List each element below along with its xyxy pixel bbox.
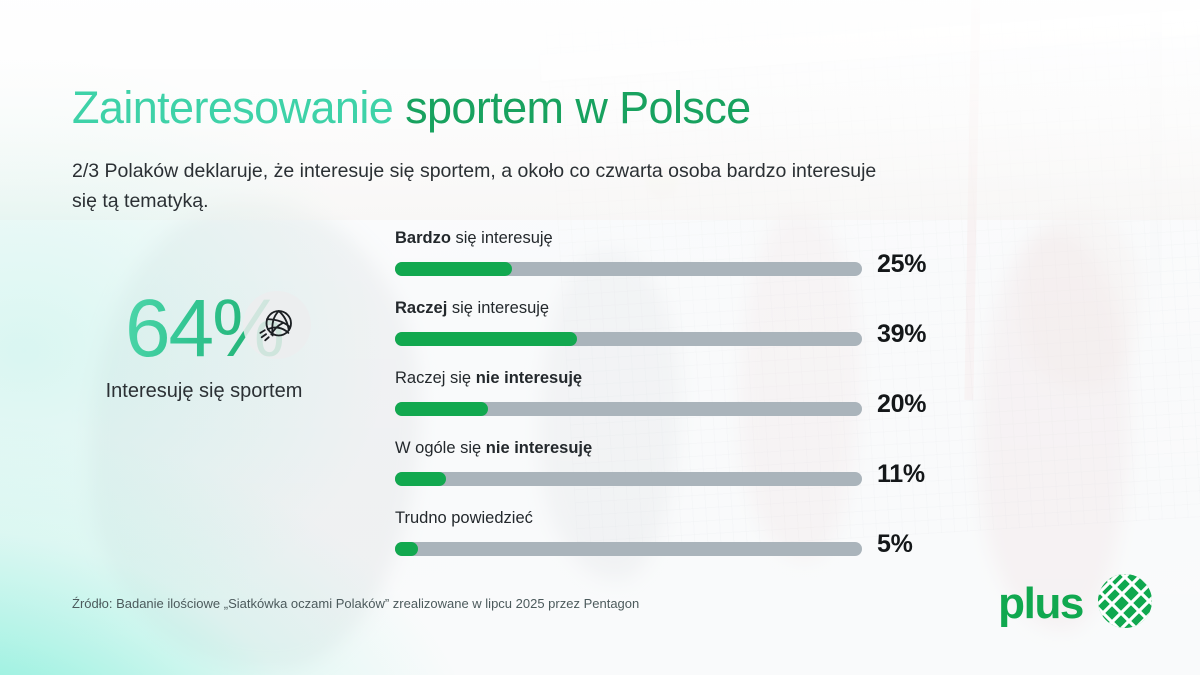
- bar-label-bold: Raczej: [395, 299, 447, 317]
- bar-label: Bardzo się interesuję: [395, 228, 955, 248]
- chart-row: Raczej się interesuję 39%: [395, 298, 955, 368]
- chart-row: Bardzo się interesuję 25%: [395, 228, 955, 298]
- bar-value: 11%: [877, 460, 925, 489]
- bar-track: [395, 402, 862, 416]
- bar-label: Raczej się interesuję: [395, 298, 955, 318]
- plus-logo-wordmark: plus: [998, 582, 1083, 626]
- bar-label-bold: nie interesuję: [476, 369, 582, 387]
- bar-label: W ogóle się nie interesuję: [395, 438, 955, 458]
- bar-fill: [395, 332, 577, 346]
- page-title-main: sportem w Polsce: [393, 82, 750, 133]
- chart-row: Trudno powiedzieć 5%: [395, 508, 955, 578]
- bar-label-bold: nie interesuję: [486, 439, 592, 457]
- bar-track: [395, 542, 862, 556]
- net-tape: [540, 5, 1200, 81]
- plus-logo: plus: [998, 572, 1154, 635]
- bar-label-rest: Trudno powiedzieć: [395, 509, 533, 527]
- bar-track: [395, 332, 862, 346]
- chart-row: W ogóle się nie interesuję 11%: [395, 438, 955, 508]
- bar-line: 11%: [395, 468, 955, 490]
- bar-fill: [395, 402, 488, 416]
- bar-label: Trudno powiedzieć: [395, 508, 955, 528]
- bar-line: 20%: [395, 398, 955, 420]
- bar-line: 39%: [395, 328, 955, 350]
- infographic-canvas: Zainteresowanie sportem w Polsce 2/3 Pol…: [0, 0, 1200, 675]
- bar-label-rest: się interesuję: [451, 229, 553, 247]
- bar-track: [395, 262, 862, 276]
- bar-value: 39%: [877, 320, 926, 349]
- bar-line: 5%: [395, 538, 955, 560]
- page-title-accent: Zainteresowanie: [72, 82, 393, 133]
- volleyball-icon: [243, 291, 311, 359]
- bar-value: 5%: [877, 530, 913, 559]
- chart-row: Raczej się nie interesuję 20%: [395, 368, 955, 438]
- bar-fill: [395, 472, 446, 486]
- bar-value: 25%: [877, 250, 926, 279]
- bar-label: Raczej się nie interesuję: [395, 368, 955, 388]
- player-silhouette: [1020, 210, 1140, 390]
- net-pole: [964, 0, 980, 400]
- bar-line: 25%: [395, 258, 955, 280]
- bar-chart: Bardzo się interesuję 25% Raczej się int…: [395, 228, 955, 578]
- source-note: Źródło: Badanie ilościowe „Siatkówka ocz…: [72, 596, 639, 611]
- bar-label-rest: się interesuję: [447, 299, 549, 317]
- page-title: Zainteresowanie sportem w Polsce: [72, 82, 751, 134]
- bar-value: 20%: [877, 390, 926, 419]
- bar-label-rest: W ogóle się: [395, 439, 486, 457]
- bar-fill: [395, 262, 512, 276]
- highlight-caption: Interesuję się sportem: [74, 378, 334, 405]
- bar-fill: [395, 542, 418, 556]
- net-pole-secondary: [1150, 0, 1162, 290]
- bar-label-bold: Bardzo: [395, 229, 451, 247]
- bar-label-rest: Raczej się: [395, 369, 476, 387]
- plus-ball-icon: [1096, 572, 1154, 635]
- page-subtitle: 2/3 Polaków deklaruje, że interesuje się…: [72, 156, 902, 216]
- bar-track: [395, 472, 862, 486]
